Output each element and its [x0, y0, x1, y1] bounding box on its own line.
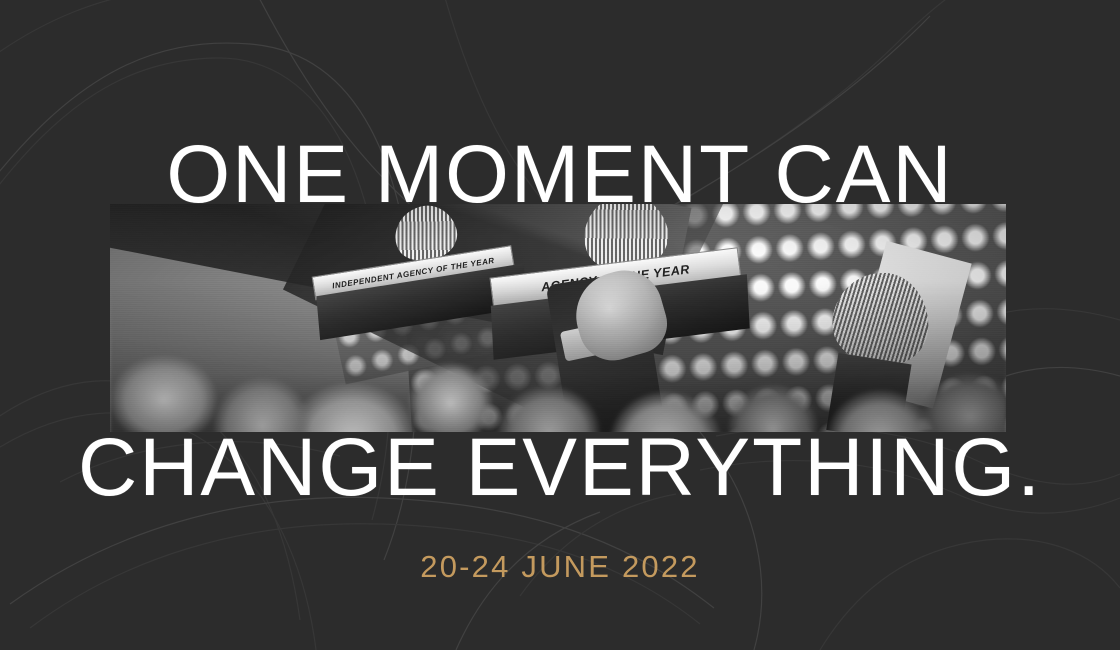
headline-line-2: CHANGE EVERYTHING. [0, 427, 1120, 509]
event-dates: 20-24 JUNE 2022 [0, 549, 1120, 585]
hero-photo-content: INDEPENDENT AGENCY OF THE YEAR AGENCY OF… [110, 204, 1006, 432]
photo-vignette [110, 204, 1006, 432]
poster-canvas: INDEPENDENT AGENCY OF THE YEAR AGENCY OF… [0, 0, 1120, 650]
headline-line-1: ONE MOMENT CAN [0, 134, 1120, 216]
hero-photo: INDEPENDENT AGENCY OF THE YEAR AGENCY OF… [110, 204, 1006, 432]
